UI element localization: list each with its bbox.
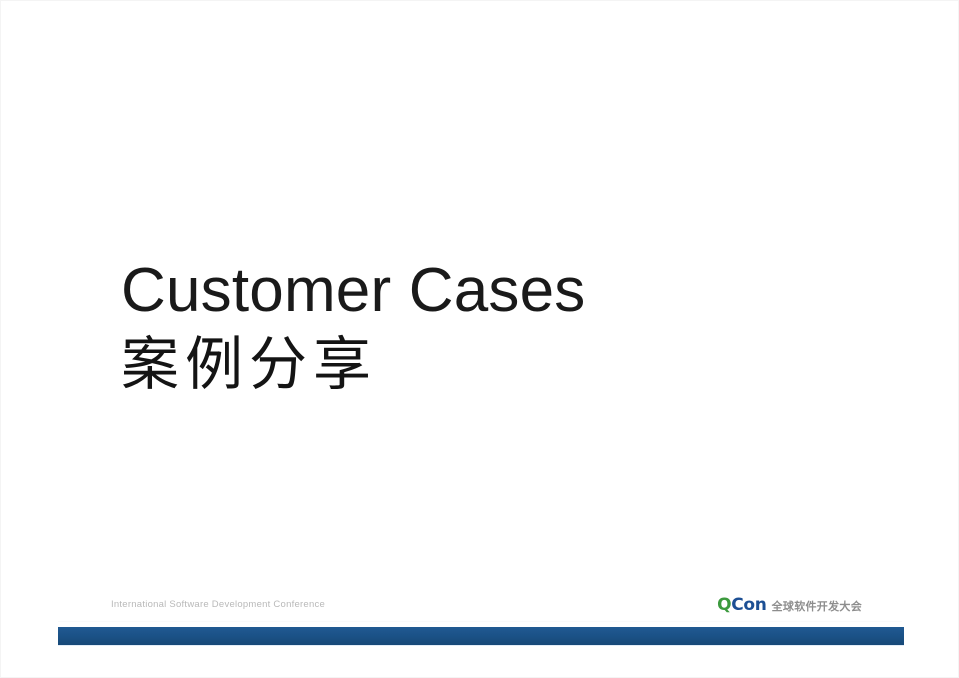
slide-footer: International Software Development Confe… bbox=[1, 587, 958, 677]
footer-tagline: International Software Development Confe… bbox=[111, 599, 325, 610]
qcon-logo-q-mark: Q bbox=[717, 595, 731, 615]
footer-divider bbox=[58, 621, 902, 622]
page-title: Customer Cases bbox=[121, 259, 821, 322]
slide-canvas: Customer Cases 案例分享 International Softwa… bbox=[0, 0, 959, 678]
qcon-logo-chinese-name: 全球软件开发大会 bbox=[772, 598, 862, 614]
footer-accent-bar bbox=[58, 627, 904, 645]
title-block: Customer Cases 案例分享 bbox=[121, 259, 821, 399]
qcon-logo: Q Con 全球软件开发大会 bbox=[717, 595, 862, 615]
page-subtitle-chinese: 案例分享 bbox=[121, 332, 821, 399]
qcon-logo-con-mark: Con bbox=[731, 595, 766, 615]
